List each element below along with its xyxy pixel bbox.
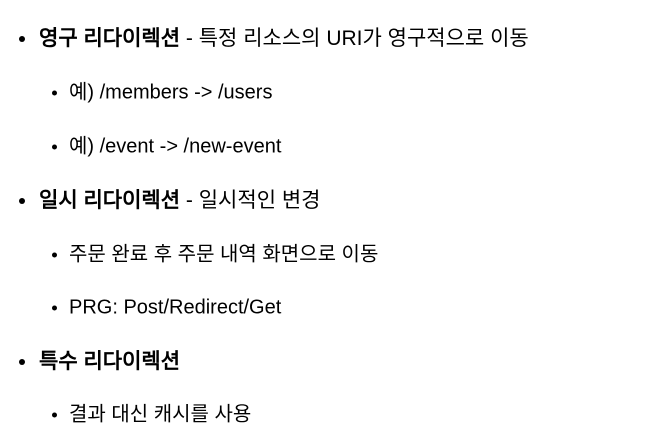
bullet-description: - 특정 리소스의 URI가 영구적으로 이동 <box>180 27 529 50</box>
bullet-item-level-1: 영구 리다이렉션 - 특정 리소스의 URI가 영구적으로 이동 <box>0 24 650 54</box>
bullet-text: 일시 리다이렉션 - 일시적인 변경 <box>39 189 321 213</box>
bullet-description: 예) /members -> /users <box>69 82 272 104</box>
disc-bullet-icon <box>52 91 57 96</box>
disc-bullet-icon <box>19 198 25 204</box>
bullet-item-level-2: 예) /members -> /users <box>0 78 650 108</box>
bullet-text: 주문 완료 후 주문 내역 화면으로 이동 <box>69 244 378 267</box>
disc-bullet-icon <box>52 306 57 311</box>
disc-bullet-icon <box>19 359 25 365</box>
disc-bullet-icon <box>52 145 57 150</box>
bullet-text: 예) /event -> /new-event <box>69 136 281 159</box>
bullet-description: 주문 완료 후 주문 내역 화면으로 이동 <box>69 244 378 266</box>
bullet-text: PRG: Post/Redirect/Get <box>69 297 281 320</box>
bullet-item-level-2: 주문 완료 후 주문 내역 화면으로 이동 <box>0 240 650 270</box>
bullet-description: 예) /event -> /new-event <box>69 136 281 158</box>
bullet-item-level-2: 결과 대신 캐시를 사용 <box>0 400 650 430</box>
bullet-item-level-1: 일시 리다이렉션 - 일시적인 변경 <box>0 186 650 216</box>
bullet-lead-term: 일시 리다이렉션 <box>39 189 180 212</box>
bullet-lead-term: 영구 리다이렉션 <box>39 27 180 50</box>
bullet-description: - 일시적인 변경 <box>180 189 320 212</box>
bullet-description: 결과 대신 캐시를 사용 <box>69 404 251 426</box>
disc-bullet-icon <box>52 253 57 258</box>
bullet-text: 예) /members -> /users <box>69 82 272 105</box>
bullet-item-level-2: PRG: Post/Redirect/Get <box>0 293 650 323</box>
disc-bullet-icon <box>19 36 25 42</box>
bullet-item-level-1: 특수 리다이렉션 <box>0 347 650 377</box>
disc-bullet-icon <box>52 413 57 418</box>
bullet-text: 영구 리다이렉션 - 특정 리소스의 URI가 영구적으로 이동 <box>39 27 529 51</box>
bullet-item-level-2: 예) /event -> /new-event <box>0 132 650 162</box>
slide-canvas: 영구 리다이렉션 - 특정 리소스의 URI가 영구적으로 이동예) /memb… <box>0 0 650 448</box>
bullet-text: 결과 대신 캐시를 사용 <box>69 404 251 427</box>
bullet-lead-term: 특수 리다이렉션 <box>39 350 180 373</box>
bullet-description: PRG: Post/Redirect/Get <box>69 297 281 319</box>
bullet-text: 특수 리다이렉션 <box>39 350 180 374</box>
